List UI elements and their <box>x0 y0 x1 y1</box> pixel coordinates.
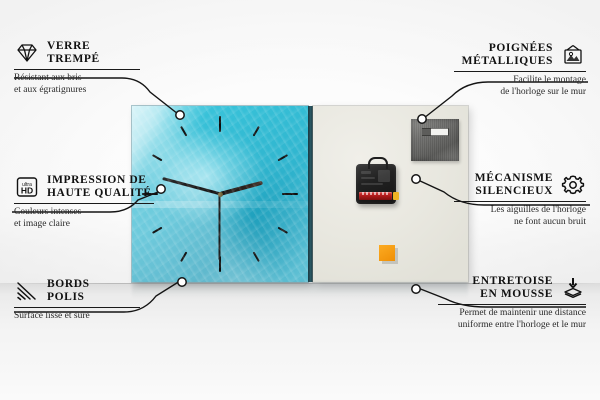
battery-plus-terminal <box>393 192 399 200</box>
feature-divider <box>14 203 154 204</box>
feature-verre-trempe: VERRE TREMPÉ Résistant aux bris et aux é… <box>14 40 154 96</box>
mechanism-hanger-loop <box>368 157 388 169</box>
feature-title: IMPRESSION DE HAUTE QUALITÉ <box>47 174 152 200</box>
feature-description: Les aiguilles de l'horloge ne font aucun… <box>442 205 586 228</box>
feature-header: VERRE TREMPÉ <box>14 40 154 66</box>
feature-divider <box>438 304 586 305</box>
hanger-keyhole-slot <box>421 128 449 136</box>
ultra-hd-icon: ultra HD <box>14 175 40 199</box>
feature-description: Couleurs intenses et image claire <box>14 207 164 230</box>
clock-second-hand <box>219 194 221 260</box>
feature-entretoise-en-mousse: ENTRETOISE EN MOUSSE Permet de maintenir… <box>430 275 586 331</box>
feature-mecanisme-silencieux: MÉCANISME SILENCIEUX Les aiguilles de l'… <box>442 172 586 228</box>
gear-icon <box>560 173 586 197</box>
feature-impression-haute-qualite: ultra HD IMPRESSION DE HAUTE QUALITÉ Cou… <box>14 174 164 230</box>
product-reflection <box>132 282 468 298</box>
feature-poignees-metalliques: POIGNÉES MÉTALLIQUES Facilite le montage… <box>440 42 586 98</box>
feature-header: BORDS POLIS <box>14 278 154 304</box>
feature-header: POIGNÉES MÉTALLIQUES <box>440 42 586 68</box>
polished-edge-icon <box>14 279 40 303</box>
foam-spacer <box>379 245 395 261</box>
feature-divider <box>14 307 140 308</box>
feature-bords-polis: BORDS POLIS Surface lisse et sûre <box>14 278 154 323</box>
svg-text:HD: HD <box>21 186 33 196</box>
feature-description: Résistant aux bris et aux égratignures <box>14 73 154 96</box>
clock-minute-hand <box>162 177 221 195</box>
feature-header: MÉCANISME SILENCIEUX <box>442 172 586 198</box>
feature-header: ultra HD IMPRESSION DE HAUTE QUALITÉ <box>14 174 164 200</box>
feature-title: BORDS POLIS <box>47 278 90 304</box>
infographic-canvas: VERRE TREMPÉ Résistant aux bris et aux é… <box>0 0 600 400</box>
feature-description: Surface lisse et sûre <box>14 311 154 323</box>
diamond-icon <box>14 41 40 65</box>
quartz-mechanism-box <box>356 164 396 204</box>
feature-divider <box>14 69 140 70</box>
feature-divider <box>454 201 586 202</box>
product-image <box>132 106 468 284</box>
feature-description: Facilite le montage de l'horloge sur le … <box>440 75 586 98</box>
clock-hour-hand <box>219 181 263 196</box>
feature-title: ENTRETOISE EN MOUSSE <box>472 275 553 301</box>
feature-divider <box>454 71 586 72</box>
feature-title: MÉCANISME SILENCIEUX <box>475 172 553 198</box>
battery <box>359 192 392 200</box>
hanging-frame-icon <box>560 43 586 67</box>
feature-description: Permet de maintenir une distance uniform… <box>430 308 586 331</box>
feature-title: POIGNÉES MÉTALLIQUES <box>462 42 553 68</box>
press-foam-icon <box>560 276 586 300</box>
metal-hanger-plate <box>411 119 459 161</box>
feature-title: VERRE TREMPÉ <box>47 40 100 66</box>
clock-center-cap <box>218 192 223 197</box>
feature-header: ENTRETOISE EN MOUSSE <box>430 275 586 301</box>
battery-label <box>362 192 388 195</box>
